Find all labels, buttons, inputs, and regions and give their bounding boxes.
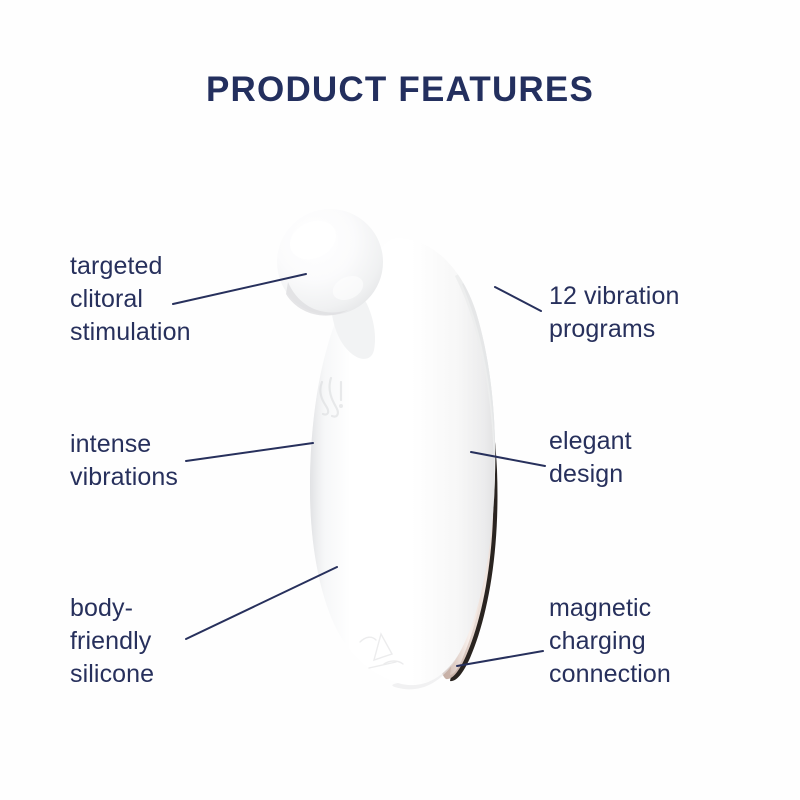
page-title: PRODUCT FEATURES	[0, 70, 800, 110]
callout-12-vibration-programs: 12 vibration programs	[549, 280, 679, 346]
callout-elegant-design: elegant design	[549, 425, 632, 491]
callout-magnetic-charging-connection: magnetic charging connection	[549, 592, 671, 691]
product-head-ball	[277, 209, 383, 359]
callout-intense-vibrations: intense vibrations	[70, 428, 178, 494]
callout-targeted-clitoral-stimulation: targeted clitoral stimulation	[70, 250, 191, 349]
product-features-infographic: PRODUCT FEATURES targeted clitoral stimu…	[0, 0, 800, 800]
callout-body-friendly-silicone: body- friendly silicone	[70, 592, 154, 691]
